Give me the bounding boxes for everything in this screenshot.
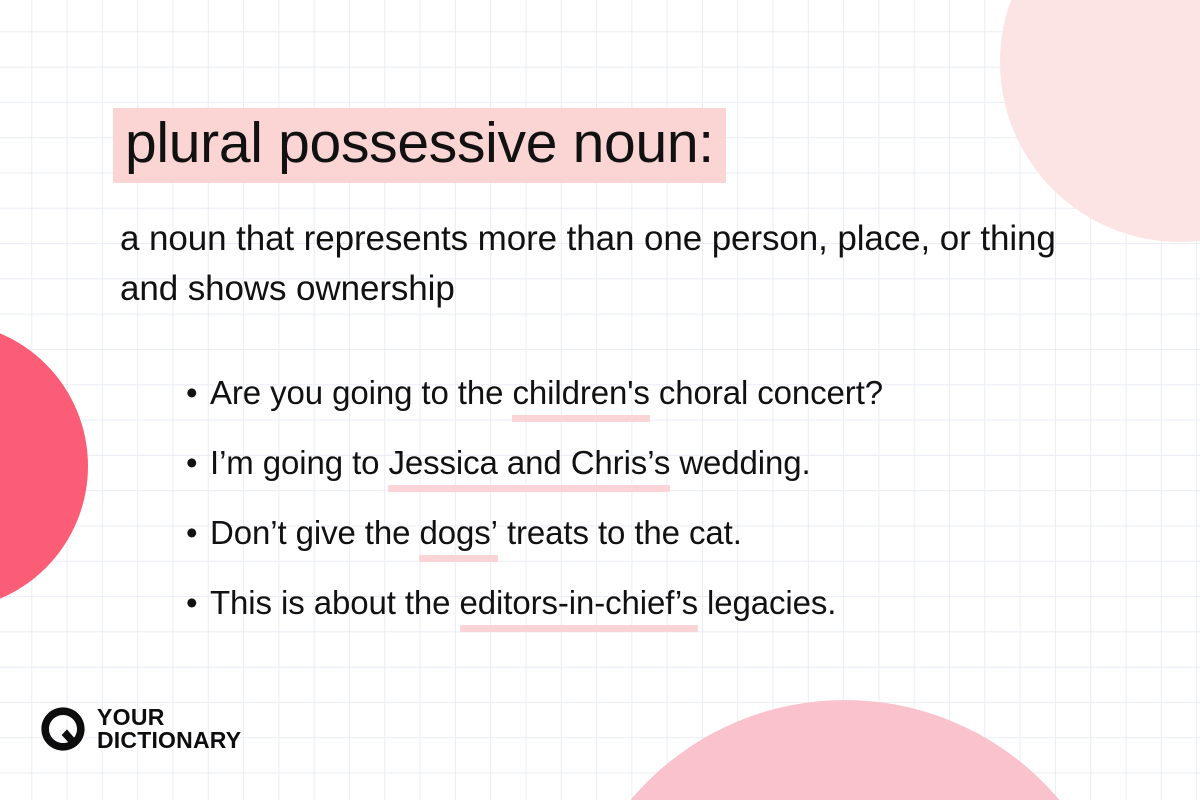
- card-content: plural possessive noun: a noun that repr…: [0, 0, 1200, 800]
- example-text-before: Don’t give the: [210, 514, 419, 551]
- page-title: plural possessive noun:: [113, 108, 726, 183]
- example-text-before: This is about the: [210, 584, 460, 621]
- bullet-icon: •: [186, 508, 210, 558]
- example-text-before: I’m going to: [210, 444, 388, 481]
- example-text-before: Are you going to the: [210, 374, 512, 411]
- example-sentence: This is about the editors-in-chief’s leg…: [210, 578, 836, 628]
- examples-list: •Are you going to the children's choral …: [186, 368, 883, 648]
- example-highlight-term: dogs’: [419, 508, 497, 558]
- yourdictionary-logo[interactable]: YOUR DICTIONARY: [40, 706, 241, 752]
- example-text-after: wedding.: [670, 444, 810, 481]
- logo-line-dictionary: DICTIONARY: [97, 729, 241, 752]
- definition-text: a noun that represents more than one per…: [120, 214, 1060, 313]
- bullet-icon: •: [186, 438, 210, 488]
- list-item: •Are you going to the children's choral …: [186, 368, 883, 438]
- example-sentence: I’m going to Jessica and Chris’s wedding…: [210, 438, 811, 488]
- example-text-after: choral concert?: [650, 374, 883, 411]
- list-item: •I’m going to Jessica and Chris’s weddin…: [186, 438, 883, 508]
- example-text-after: treats to the cat.: [498, 514, 742, 551]
- list-item: •This is about the editors-in-chief’s le…: [186, 578, 883, 648]
- page-title-container: plural possessive noun:: [113, 108, 726, 183]
- yourdictionary-q-mark-icon: [40, 706, 86, 752]
- bullet-icon: •: [186, 578, 210, 628]
- example-sentence: Are you going to the children's choral c…: [210, 368, 883, 418]
- example-highlight-term: Jessica and Chris’s: [388, 438, 670, 488]
- list-item: •Don’t give the dogs’ treats to the cat.: [186, 508, 883, 578]
- example-highlight-term: editors-in-chief’s: [460, 578, 698, 628]
- logo-line-your: YOUR: [97, 706, 241, 729]
- example-sentence: Don’t give the dogs’ treats to the cat.: [210, 508, 742, 558]
- logo-wordmark: YOUR DICTIONARY: [97, 706, 241, 752]
- example-text-after: legacies.: [698, 584, 836, 621]
- infographic-card: plural possessive noun: a noun that repr…: [0, 0, 1200, 800]
- bullet-icon: •: [186, 368, 210, 418]
- example-highlight-term: children's: [512, 368, 649, 418]
